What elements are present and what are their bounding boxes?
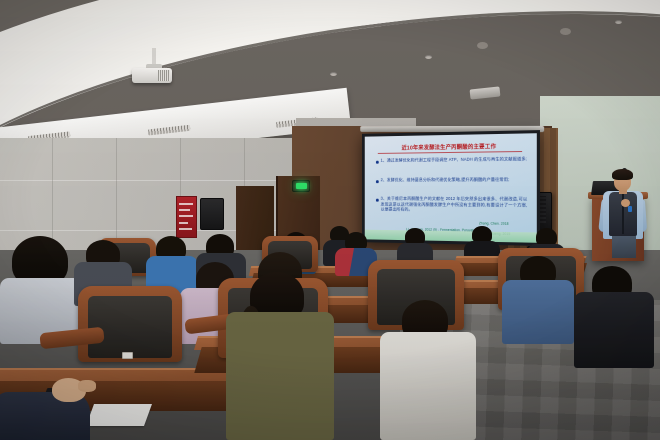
presenter-hair [612, 169, 633, 180]
sprinkler-head [615, 20, 622, 24]
loose-paper [86, 404, 152, 426]
air-vent [148, 125, 190, 136]
presenter-hand [621, 199, 630, 207]
seat-number-tag [122, 352, 133, 359]
slide-bullet-2: 2、发酵优化、维持菌息分析和代谢优化策略,提升丙酮酸的产量往常用; [381, 177, 528, 183]
lecture-hall-photo: 近10年来发酵法生产丙酮酸的主要工作 1、通过发酵优化和代谢工程手段调控 ATP… [0, 0, 660, 440]
bullet-marker [376, 199, 378, 202]
presenter-badge [628, 206, 632, 212]
wall-speaker-left [200, 198, 224, 230]
sprinkler-head [425, 55, 432, 59]
ceiling-speaker [560, 28, 571, 35]
slide-bullet-1: 1、通过发酵优化和代谢工程手段调控 ATP、NADH 的生成与再生的文献报道多; [381, 156, 528, 163]
bullet-marker [376, 161, 378, 164]
presenter-trousers [612, 236, 636, 258]
red-wall-poster [176, 196, 197, 238]
emergency-exit-sign [292, 180, 310, 192]
ceiling-speaker [477, 42, 488, 49]
presentation-slide: 近10年来发酵法生产丙酮酸的主要工作 1、通过发酵优化和代谢工程手段调控 ATP… [365, 133, 537, 243]
projection-screen-surface: 近10年来发酵法生产丙酮酸的主要工作 1、通过发酵优化和代谢工程手段调控 ATP… [365, 133, 537, 243]
projection-screen[interactable]: 近10年来发酵法生产丙酮酸的主要工作 1、通过发酵优化和代谢工程手段调控 ATP… [362, 130, 540, 246]
slide-footer-band [365, 230, 537, 243]
sprinkler-head [330, 72, 337, 76]
projector-vent [158, 70, 170, 81]
slide-bullet-3: 3、关于维尼本丙酮酸生产的文献在 2012 年后突然多出来很多、代谢改造,可以发… [381, 196, 528, 214]
exit-sign-glow [296, 183, 307, 189]
bullet-marker [376, 180, 378, 183]
